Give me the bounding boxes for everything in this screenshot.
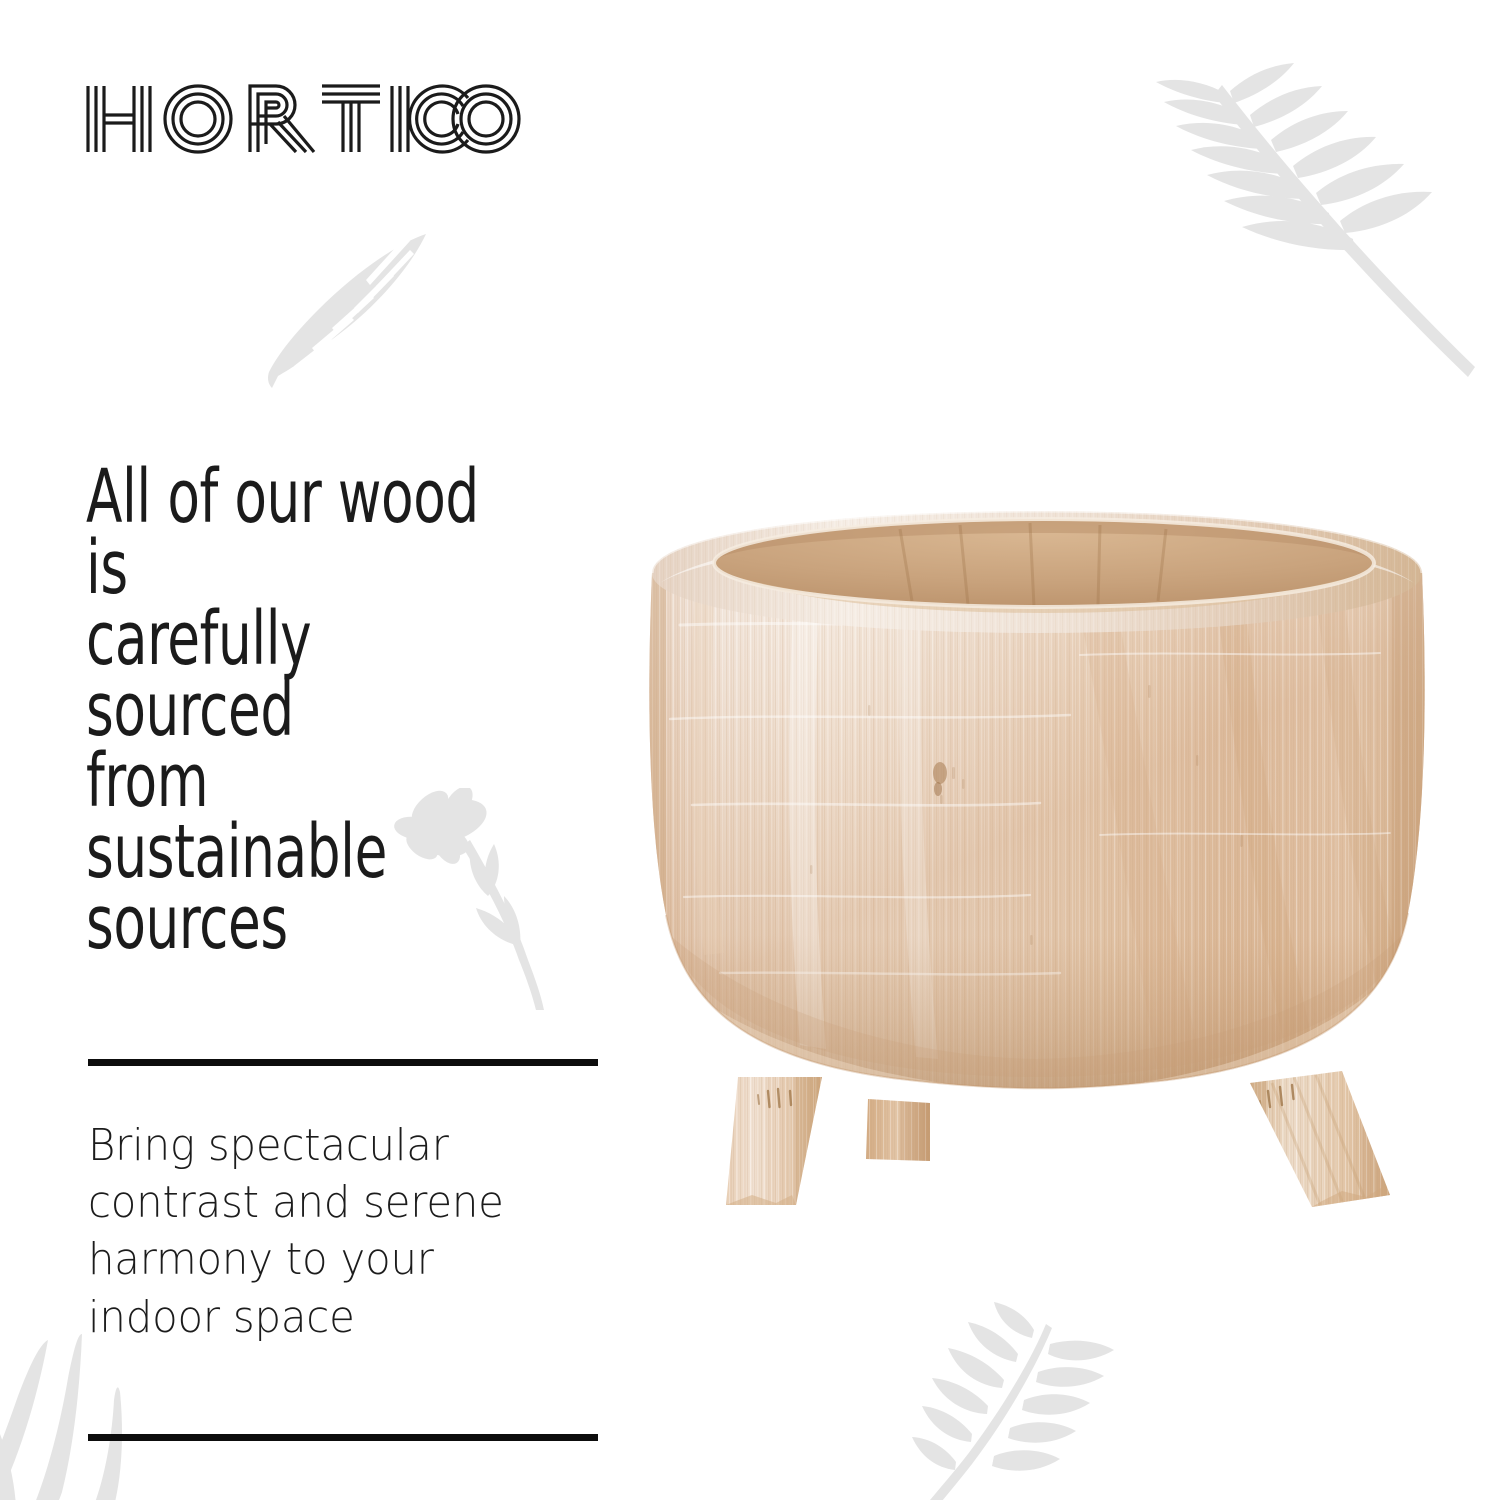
page-title: All of our wood is carefully sourced fro… xyxy=(86,462,518,959)
product-marketing-card: All of our wood is carefully sourced fro… xyxy=(0,0,1500,1500)
product-image-wooden-planter xyxy=(600,505,1500,1295)
grass-blades-icon xyxy=(0,1330,220,1500)
planter-leg-right xyxy=(1240,1061,1410,1221)
brand-logo-hortico xyxy=(82,78,522,160)
divider-above-body-copy xyxy=(88,1059,598,1066)
planter-rim xyxy=(652,511,1422,633)
fern-frond-leaf-icon xyxy=(900,1292,1190,1500)
body-copy: Bring spectacular contrast and serene ha… xyxy=(88,1117,601,1346)
planter-leg-center xyxy=(860,1095,940,1167)
pointed-leaf-icon xyxy=(258,228,448,398)
planter-leg-left xyxy=(720,1065,840,1215)
divider-below-body-copy xyxy=(88,1434,598,1441)
palm-frond-leaf-icon xyxy=(1130,55,1500,405)
